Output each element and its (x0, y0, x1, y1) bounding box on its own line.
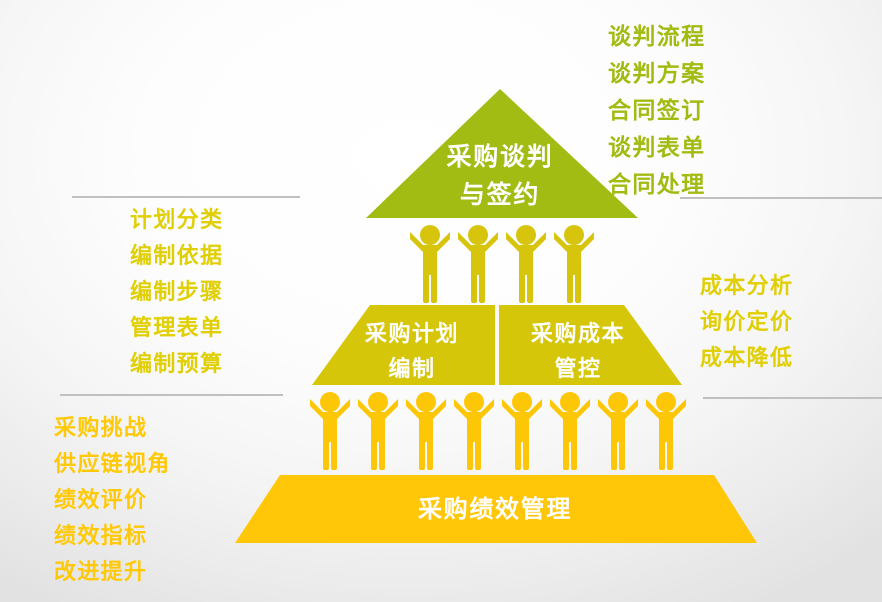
negotiation-topic-item: 谈判表单 (608, 129, 706, 166)
person-icon (410, 225, 450, 303)
divider-top-left (72, 196, 300, 198)
performance-topic-item: 采购挑战 (54, 410, 147, 446)
plan-topic-item: 计划分类 (130, 202, 223, 238)
person-icon (554, 225, 594, 303)
cost-topics-group: 成本分析 询价定价 成本降低 (700, 268, 793, 376)
negotiation-topic-item: 合同处理 (608, 166, 706, 203)
negotiation-topics-group: 谈判流程 谈判方案 合同签订 谈判表单 合同处理 (608, 18, 706, 203)
people-row-upper (410, 225, 594, 303)
tier-base-shape[interactable] (235, 475, 757, 543)
negotiation-topic-item: 谈判方案 (608, 55, 706, 92)
tier-plan-shape[interactable] (312, 305, 495, 385)
plan-topic-item: 编制预算 (130, 346, 223, 382)
plan-topic-item: 编制步骤 (130, 274, 223, 310)
tier-apex-shape[interactable] (366, 89, 638, 218)
person-icon (506, 225, 546, 303)
performance-topic-item: 供应链视角 (54, 446, 171, 482)
person-icon (646, 392, 686, 470)
plan-topic-item: 编制依据 (130, 238, 223, 274)
plan-topics-group: 计划分类 编制依据 编制步骤 管理表单 编制预算 (130, 202, 223, 382)
person-icon (458, 225, 498, 303)
negotiation-topic-item: 合同签订 (608, 92, 706, 129)
person-icon (358, 392, 398, 470)
performance-topic-item: 绩效评价 (54, 482, 147, 518)
person-icon (406, 392, 446, 470)
person-icon (550, 392, 590, 470)
diagram-canvas: 采购谈判 与签约 采购计划 编制 采购成本 管控 采购绩效管理 谈判流程 谈判方… (0, 0, 882, 602)
plan-topic-item: 管理表单 (130, 310, 223, 346)
divider-mid-right (703, 397, 882, 399)
person-icon (310, 392, 350, 470)
performance-topics-group: 采购挑战 供应链视角 绩效评价 绩效指标 改进提升 (54, 410, 171, 590)
person-icon (502, 392, 542, 470)
performance-topic-item: 改进提升 (54, 554, 147, 590)
person-icon (454, 392, 494, 470)
person-icon (598, 392, 638, 470)
cost-topic-item: 询价定价 (700, 304, 793, 340)
tier-cost-shape[interactable] (499, 305, 682, 385)
cost-topic-item: 成本分析 (700, 268, 793, 304)
people-row-lower (310, 392, 686, 470)
cost-topic-item: 成本降低 (700, 340, 793, 376)
divider-top-right (680, 197, 882, 199)
negotiation-topic-item: 谈判流程 (608, 18, 706, 55)
divider-mid-left (60, 394, 283, 396)
tier-divider (495, 305, 499, 385)
performance-topic-item: 绩效指标 (54, 518, 147, 554)
